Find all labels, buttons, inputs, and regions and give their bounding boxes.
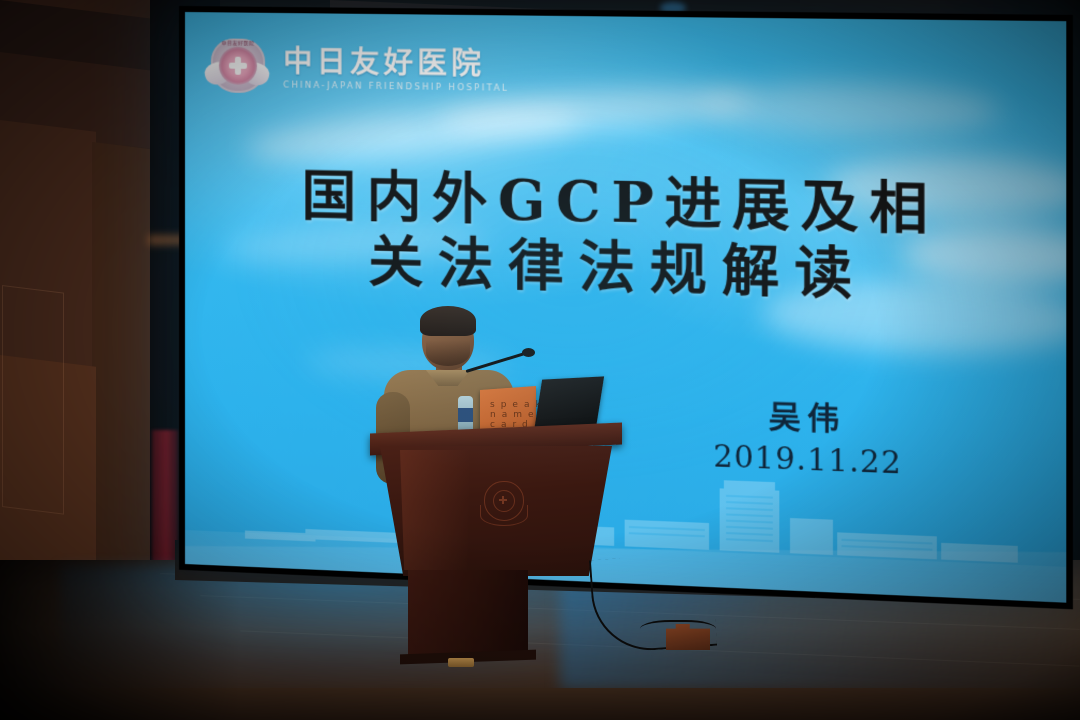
podium-hospital-emblem: [478, 475, 528, 531]
microphone-stem: [466, 352, 526, 373]
podium-column: [408, 570, 528, 658]
hospital-name-cn: 中日友好医院: [283, 47, 509, 79]
hospital-name-en: CHINA-JAPAN FRIENDSHIP HOSPITAL: [283, 81, 509, 93]
presentation-photo: 中日友好医院 中日友好医院 CHINA-JAPAN FRIENDSHIP HOS…: [0, 0, 1080, 720]
floor-shadow: [0, 560, 240, 720]
wooden-shim: [448, 658, 474, 667]
medical-cross-icon: [229, 57, 247, 75]
speaker-hair: [420, 306, 476, 336]
water-bottle-label: [458, 408, 473, 422]
slide-hospital-logo: 中日友好医院 中日友好医院 CHINA-JAPAN FRIENDSHIP HOS…: [207, 36, 509, 103]
emblem-arc-text: 中日友好医院: [217, 39, 259, 54]
podium-emblem-wing: [480, 505, 528, 526]
cloud: [698, 79, 1000, 138]
podium-highlight: [400, 450, 470, 570]
podium-and-speaker: speaker-name-card: [370, 300, 630, 680]
logo-text-block: 中日友好医院 CHINA-JAPAN FRIENDSHIP HOSPITAL: [283, 47, 509, 93]
podium-medical-cross-icon: [499, 496, 507, 504]
presenter-name: 吴伟: [713, 389, 902, 441]
speaker-face-shadow: [426, 340, 470, 366]
slide-presenter-block: 吴伟 2019.11.22: [713, 389, 902, 481]
microphone-icon: [522, 348, 535, 357]
speaker-name-card-text: speaker-name-card: [490, 400, 530, 430]
presentation-date: 2019.11.22: [713, 439, 902, 481]
wall-inset-frame: [2, 285, 64, 515]
slide-title: 国内外GCP进展及相 关法律法规解读: [185, 162, 1066, 313]
hospital-emblem-icon: 中日友好医院: [207, 36, 269, 99]
